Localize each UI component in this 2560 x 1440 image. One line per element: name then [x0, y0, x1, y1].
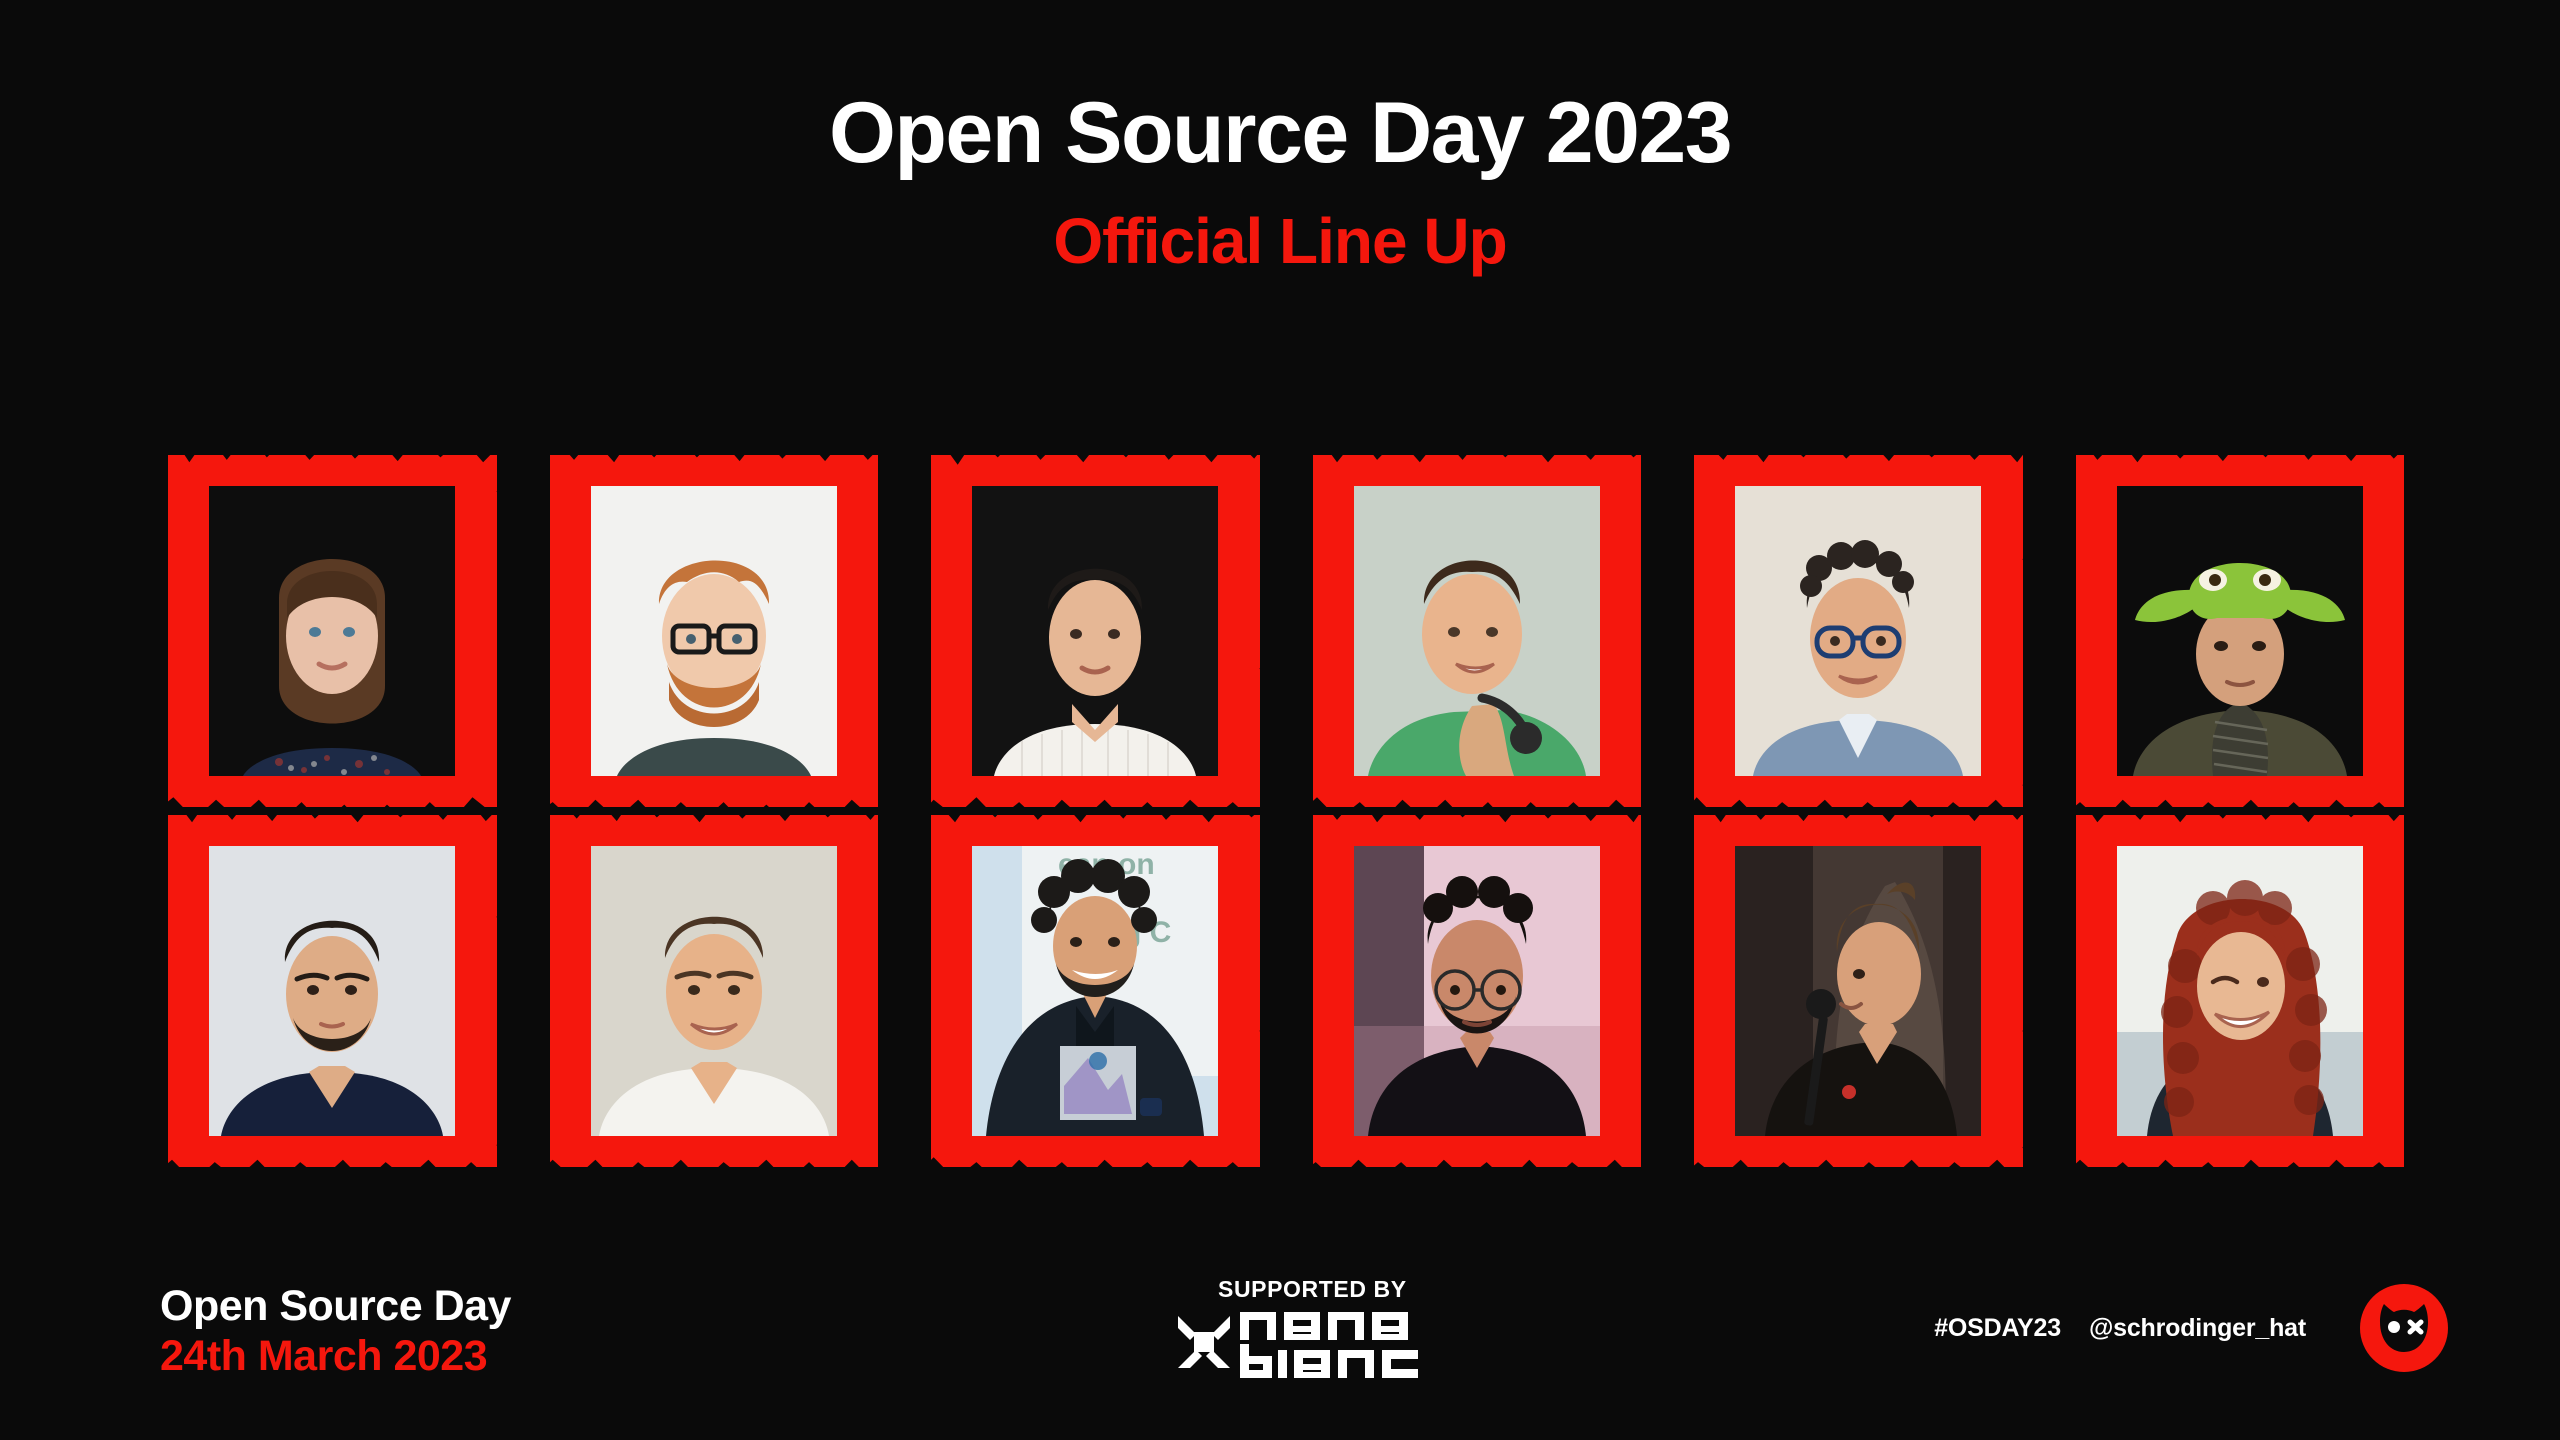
footer-event-name: Open Source Day [160, 1281, 511, 1332]
speaker-card[interactable] [1694, 455, 2023, 807]
social-handle[interactable]: @schrodinger_hat [2089, 1314, 2306, 1343]
speaker-card[interactable] [550, 455, 879, 807]
speaker-card[interactable] [2076, 815, 2405, 1167]
footer-social: #OSDAY23 @schrodinger_hat [1934, 1282, 2450, 1374]
speaker-card[interactable] [168, 815, 497, 1167]
speaker-photo [1354, 846, 1600, 1136]
speaker-card[interactable]: ean onering C [931, 815, 1260, 1167]
footer-event-info: Open Source Day 24th March 2023 [160, 1281, 511, 1382]
speaker-card[interactable] [2076, 455, 2405, 807]
page-subtitle: Official Line Up [0, 208, 2560, 275]
sponsor-wordmark [1240, 1306, 1426, 1378]
speaker-photo [591, 846, 837, 1136]
sponsor-name-line1 [1240, 1306, 1426, 1340]
speaker-photo: ean onering C [972, 846, 1218, 1136]
speaker-photo [209, 486, 455, 776]
nana-bianca-mark-icon [1176, 1314, 1232, 1370]
sponsor-block: SUPPORTED BY [1176, 1276, 1436, 1378]
speaker-card[interactable] [1313, 455, 1642, 807]
speaker-photo [2117, 486, 2363, 776]
speaker-photo [1735, 486, 1981, 776]
speaker-card[interactable] [1694, 815, 2023, 1167]
speaker-photo [2117, 846, 2363, 1136]
page-title: Open Source Day 2023 [0, 88, 2560, 178]
schrodinger-hat-cat-icon[interactable] [2358, 1282, 2450, 1374]
sponsor-name-line2 [1240, 1344, 1426, 1378]
speaker-photo [1354, 486, 1600, 776]
event-hashtag: #OSDAY23 [1934, 1314, 2061, 1343]
speaker-card[interactable] [550, 815, 879, 1167]
speaker-photo [1735, 846, 1981, 1136]
speaker-card[interactable] [931, 455, 1260, 807]
poster-root: Open Source Day 2023 Official Line Up [0, 0, 2560, 1440]
speaker-card[interactable] [168, 455, 497, 807]
footer-event-date: 24th March 2023 [160, 1331, 511, 1382]
speaker-grid: ean onering C [168, 455, 2404, 1167]
sponsor-logo [1176, 1306, 1436, 1378]
supported-by-label: SUPPORTED BY [1218, 1276, 1436, 1303]
poster-header: Open Source Day 2023 Official Line Up [0, 88, 2560, 275]
speaker-photo [209, 846, 455, 1136]
speaker-photo [591, 486, 837, 776]
speaker-card[interactable] [1313, 815, 1642, 1167]
speaker-photo [972, 486, 1218, 776]
